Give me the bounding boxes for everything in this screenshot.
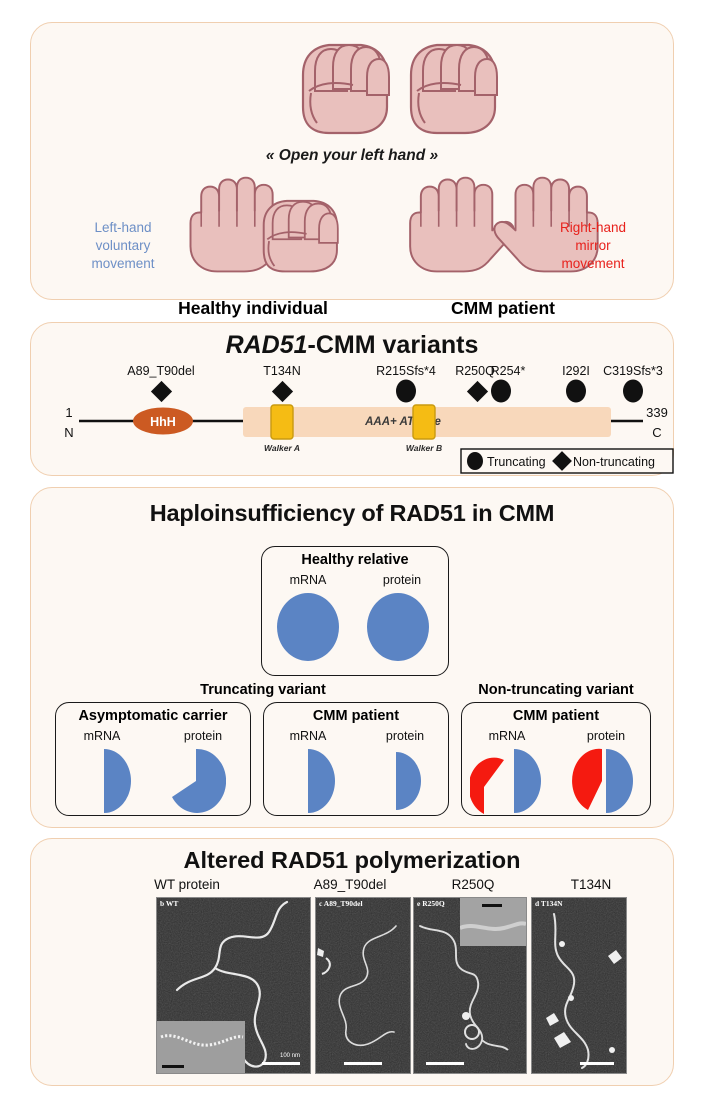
variant-marker-circle: [623, 380, 643, 403]
fist-icon: [264, 201, 338, 272]
scalebar-r250q: [426, 1062, 464, 1065]
walker-b-label: Walker B: [406, 443, 442, 453]
em-label-r250q: R250Q: [413, 877, 533, 892]
pie-mrna: [276, 592, 340, 662]
pie-label-protein: protein: [366, 729, 444, 743]
box-cmm-patient-truncating: CMM patient mRNA protein: [263, 702, 449, 816]
em-label-t134n: T134N: [531, 877, 651, 892]
right-hand-mirror-label: Right-hand mirror movement: [547, 219, 639, 272]
pie-label-protein: protein: [364, 573, 440, 587]
em-tag-r250q: e R250Q: [417, 899, 445, 908]
pie-label-protein: protein: [164, 729, 242, 743]
variant-legend: Truncating Non-truncating: [461, 449, 673, 473]
legend-label-truncating: Truncating: [487, 455, 546, 469]
pie-label-mrna: mRNA: [272, 573, 344, 587]
scalebar-t134n: [580, 1062, 614, 1065]
pie-mrna-half: [280, 748, 336, 814]
variant-marker-diamond: [272, 381, 293, 402]
pie-protein-three-quarter: [166, 748, 226, 814]
n-terminus-letter: N: [64, 425, 73, 440]
fist-pair-top: [31, 33, 675, 145]
c-terminus-number: 339: [646, 405, 668, 420]
em-image-a89t90del: c A89_T90del: [315, 897, 411, 1074]
em-image-t134n: d T134N: [531, 897, 627, 1074]
em-label-a89t90del: A89_T90del: [283, 877, 417, 892]
em-inset-wt: [157, 1021, 245, 1073]
hhh-domain-label: HhH: [150, 415, 176, 429]
pie-protein: [366, 592, 430, 662]
group-title-truncating: Truncating variant: [143, 682, 383, 698]
gene-name-italic: RAD51: [226, 331, 308, 359]
box-title: Healthy relative: [262, 552, 448, 568]
em-micrograph-t134n: [532, 898, 627, 1074]
variant-marker-group: R215Sfs*4: [376, 364, 436, 403]
variant-marker-diamond: [467, 381, 488, 402]
walker-a-label: Walker A: [264, 443, 300, 453]
variant-marker-group: R254*: [491, 364, 526, 403]
variant-label: A89_T90del: [127, 364, 194, 378]
caption-healthy-individual: Healthy individual: [143, 298, 363, 319]
pie-protein-half-with-red: [562, 748, 640, 814]
group-title-nontruncating: Non-truncating variant: [443, 682, 669, 698]
variant-marker-group: I292I: [562, 364, 590, 403]
em-micrograph-a89t90del: [316, 898, 411, 1074]
em-image-r250q: e R250Q: [413, 897, 527, 1074]
variant-label: T134N: [263, 364, 301, 378]
variant-marker-diamond: [151, 381, 172, 402]
variant-marker-group: C319Sfs*3: [603, 364, 663, 403]
inset-scalebar-wt: [162, 1065, 184, 1068]
pie-label-mrna: mRNA: [468, 729, 546, 743]
legend-circle-icon: [467, 452, 483, 470]
panel-rad51-cmm-variants: RAD51-CMM variants AAA+ ATPase HhH Walke…: [30, 322, 674, 476]
box-asymptomatic-carrier: Asymptomatic carrier mRNA protein: [55, 702, 251, 816]
variant-marker-group: R250Q: [455, 364, 495, 402]
inset-scalebar-r250q: [482, 904, 502, 907]
variant-label: C319Sfs*3: [603, 364, 663, 378]
em-inset-r250q: [460, 898, 526, 946]
scalebar-text-wt: 100 nm: [280, 1053, 300, 1059]
pie-label-mrna: mRNA: [270, 729, 346, 743]
variant-label: I292I: [562, 364, 590, 378]
box-title: CMM patient: [264, 708, 448, 724]
em-tag-t134n: d T134N: [535, 899, 563, 908]
variant-marker-circle: [491, 380, 511, 403]
walker-b-motif: [413, 405, 435, 439]
em-tag-wt: b WT: [160, 899, 178, 908]
panel-poly-title: Altered RAD51 polymerization: [31, 847, 673, 874]
box-title: CMM patient: [462, 708, 650, 724]
pie-label-mrna: mRNA: [64, 729, 140, 743]
box-cmm-patient-nontruncating: CMM patient mRNA protein: [461, 702, 651, 816]
variant-marker-circle: [396, 380, 416, 403]
pie-protein-half: [370, 751, 422, 811]
caption-cmm-patient: CMM patient: [403, 298, 603, 319]
fist-icon: [411, 45, 497, 133]
box-title: Asymptomatic carrier: [56, 708, 250, 724]
fist-icon: [303, 45, 389, 133]
scalebar-wt: [262, 1062, 300, 1065]
variant-label: R254*: [491, 364, 526, 378]
panel-haploinsufficiency: Haploinsufficiency of RAD51 in CMM Healt…: [30, 487, 674, 828]
em-image-wt: b WT 100 nm: [156, 897, 311, 1074]
box-healthy-relative: Healthy relative mRNA protein: [261, 546, 449, 676]
pie-mrna-half-with-red: [470, 748, 548, 814]
protein-domain-diagram: AAA+ ATPase HhH Walker A Walker B 1 N 33…: [31, 363, 675, 475]
legend-label-nontruncating: Non-truncating: [573, 455, 655, 469]
em-label-wt: WT protein: [87, 877, 287, 892]
variant-marker-group: T134N: [263, 364, 301, 402]
scalebar-a89t90del: [344, 1062, 382, 1065]
left-hand-voluntary-label: Left-hand voluntary movement: [77, 219, 169, 272]
instruction-quote: « Open your left hand »: [31, 147, 673, 165]
pie-mrna-half: [76, 748, 132, 814]
pie-label-protein: protein: [566, 729, 646, 743]
variant-marker-group: A89_T90del: [127, 364, 194, 402]
variant-label: R215Sfs*4: [376, 364, 436, 378]
em-tag-a89t90del: c A89_T90del: [319, 899, 363, 908]
panel-variants-title: RAD51-CMM variants: [31, 331, 673, 360]
panel-haplo-title: Haploinsufficiency of RAD51 in CMM: [31, 500, 673, 527]
variant-marker-circle: [566, 380, 586, 403]
title-suffix: -CMM variants: [308, 331, 479, 359]
panel-hands-mirror-movement: « Open your left hand » Left-hand vo: [30, 22, 674, 300]
panel-altered-polymerization: Altered RAD51 polymerization WT protein …: [30, 838, 674, 1086]
n-terminus-number: 1: [65, 405, 72, 420]
walker-a-motif: [271, 405, 293, 439]
c-terminus-letter: C: [652, 425, 661, 440]
variant-label: R250Q: [455, 364, 495, 378]
